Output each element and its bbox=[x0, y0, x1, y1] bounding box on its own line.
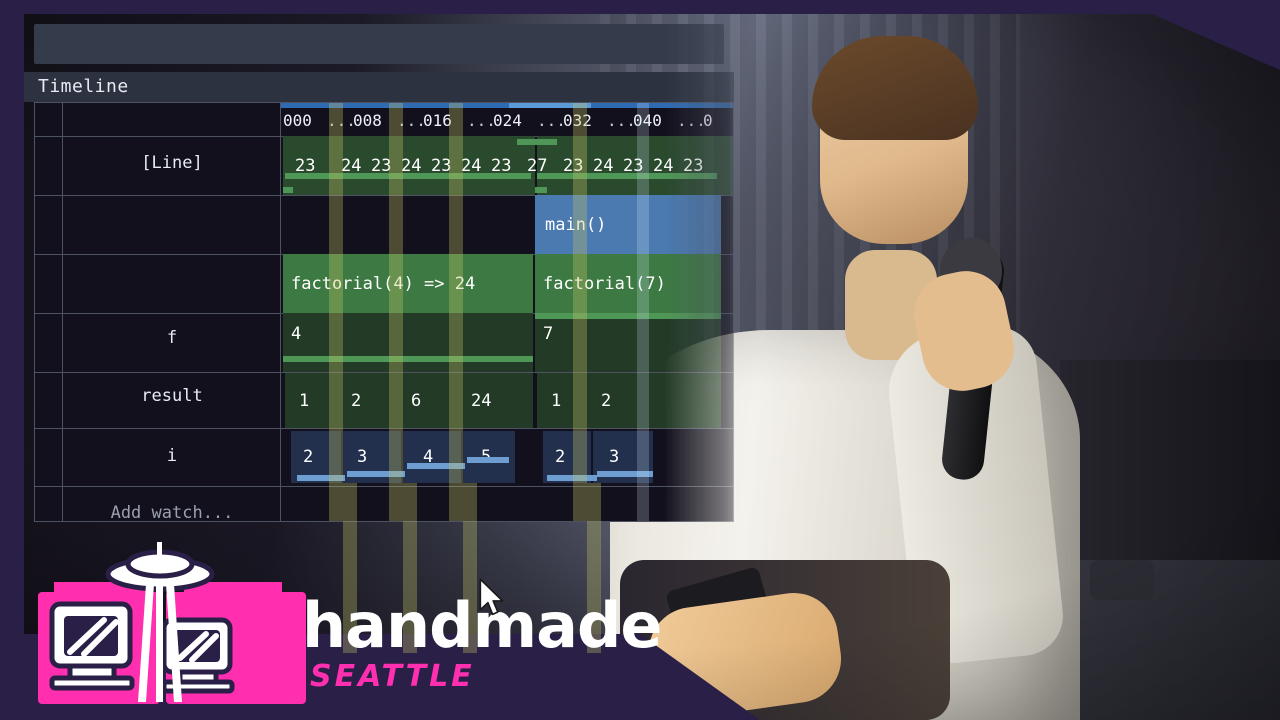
panel-title: Timeline bbox=[24, 72, 734, 102]
ruler-tick: 016 bbox=[423, 111, 452, 130]
row-label-line[interactable]: [Line] bbox=[63, 153, 281, 173]
callstack-main[interactable]: main() bbox=[535, 195, 721, 254]
callstack-factorial-left[interactable]: factorial(4) => 24 bbox=[283, 254, 533, 313]
row-label-i[interactable]: i bbox=[63, 446, 281, 466]
watch-i-bar bbox=[547, 475, 597, 481]
line-value[interactable]: 23 bbox=[675, 136, 715, 195]
row-label-result[interactable]: result bbox=[63, 386, 281, 406]
track-area[interactable]: 000 ... 008 ... 016 ... 024 ... 032 ... … bbox=[281, 103, 733, 521]
ruler-dots: ... bbox=[607, 111, 636, 130]
watch-f-bar bbox=[283, 356, 533, 362]
screen: Timeline [Line] f result i Add watch... bbox=[0, 0, 1280, 720]
timeline-grid[interactable]: [Line] f result i Add watch... 000 ... 0… bbox=[34, 102, 734, 522]
line-bar bbox=[517, 139, 557, 145]
logo-subtitle: SEATTLE bbox=[310, 659, 475, 694]
line-bar bbox=[535, 187, 547, 193]
toolbar[interactable] bbox=[34, 24, 724, 64]
scrub-stripe[interactable] bbox=[637, 103, 649, 521]
add-watch-button[interactable]: Add watch... bbox=[63, 503, 281, 523]
line-bar bbox=[537, 173, 717, 179]
ruler-tick: 0 bbox=[703, 111, 713, 130]
watch-f-left[interactable]: 4 bbox=[283, 313, 533, 372]
watch-result-value[interactable]: 2 bbox=[593, 373, 633, 428]
scrub-stripe[interactable] bbox=[573, 103, 587, 521]
scrub-stripe[interactable] bbox=[389, 103, 403, 521]
watch-result-value[interactable]: 6 bbox=[403, 373, 443, 428]
scrub-stripe[interactable] bbox=[329, 103, 343, 521]
scrub-stripe[interactable] bbox=[449, 103, 463, 521]
frame-top bbox=[0, 0, 1280, 14]
watch-i-bar bbox=[467, 457, 509, 463]
line-bar bbox=[285, 173, 531, 179]
debugger-overlay: Timeline [Line] f result i Add watch... bbox=[24, 14, 1204, 524]
row-label-f[interactable]: f bbox=[63, 328, 281, 348]
watch-result-value[interactable]: 1 bbox=[291, 373, 331, 428]
line-value[interactable]: 24 bbox=[585, 136, 611, 195]
frame-left bbox=[0, 0, 24, 720]
line-value[interactable]: 23 bbox=[287, 136, 327, 195]
mouse-pointer-icon bbox=[478, 578, 506, 618]
watch-f-bar bbox=[535, 313, 721, 319]
ruler-dots: ... bbox=[677, 111, 706, 130]
handmade-seattle-logo: handmade SEATTLE bbox=[34, 542, 614, 712]
ruler-tick: 024 bbox=[493, 111, 522, 130]
gutter-column bbox=[35, 103, 63, 521]
watch-result-value[interactable]: 2 bbox=[343, 373, 383, 428]
ruler-tick: 008 bbox=[353, 111, 382, 130]
time-ruler[interactable]: 000 ... 008 ... 016 ... 024 ... 032 ... … bbox=[281, 103, 733, 136]
watch-result-value[interactable]: 24 bbox=[463, 373, 513, 428]
ruler-dots: ... bbox=[537, 111, 566, 130]
watch-f-right[interactable]: 7 bbox=[535, 313, 721, 372]
callstack-factorial-right[interactable]: factorial(7) bbox=[535, 254, 721, 313]
ruler-dots: ... bbox=[467, 111, 496, 130]
line-bar bbox=[283, 187, 293, 193]
ruler-tick: 000 bbox=[283, 111, 312, 130]
